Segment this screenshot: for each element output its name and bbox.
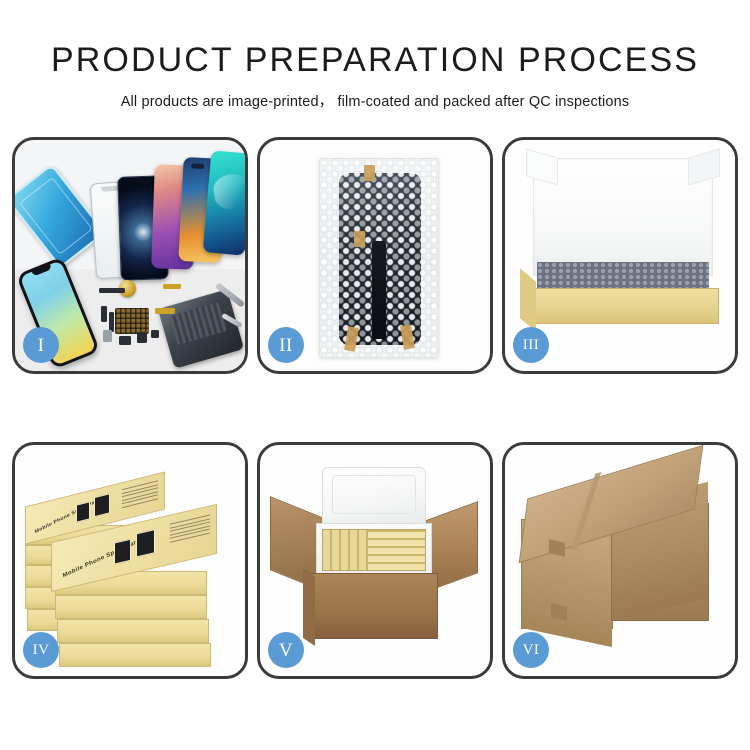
stacked-box-fr-3: [57, 619, 209, 643]
tape-top: [364, 165, 375, 181]
speaker-part: [99, 288, 125, 293]
process-step-panel-2[interactable]: II: [257, 137, 493, 374]
flex-cable-part-c: [155, 308, 175, 314]
process-step-panel-6[interactable]: VI: [502, 442, 738, 679]
process-step-panel-4[interactable]: Mobile Phone Spare Parts Mobile: [12, 442, 248, 679]
box-thumb-front-1: [114, 539, 131, 565]
process-step-panel-1[interactable]: I: [12, 137, 248, 374]
step-badge-6: VI: [513, 632, 549, 668]
camera-module-part: [119, 336, 131, 345]
flex-cable-part-a: [101, 306, 107, 322]
process-step-panel-5[interactable]: V: [257, 442, 493, 679]
box-thumb-back-1: [76, 501, 90, 522]
stacked-box-fr-2: [55, 595, 207, 619]
step-badge-4: IV: [23, 632, 59, 668]
flex-cable-part-b: [109, 312, 114, 332]
box-yellow-base: [527, 288, 719, 324]
box-thumb-back-2: [94, 493, 110, 517]
step-badge-5: V: [268, 632, 304, 668]
battery-connector-part: [137, 332, 147, 343]
box-thumb-front-2: [136, 529, 155, 557]
box-stack: Mobile Phone Spare Parts Mobile: [21, 463, 241, 663]
box-spec-lines-front: [170, 514, 210, 544]
step-badge-3: III: [513, 327, 549, 363]
box-spec-lines-back: [122, 480, 158, 510]
foam-box-lid: [322, 467, 426, 529]
product-preparation-process-page: PRODUCT PREPARATION PROCESS All products…: [0, 0, 750, 750]
button-part: [151, 330, 159, 338]
sim-tray-part: [103, 330, 112, 342]
bubble-wrap-bag: [319, 158, 439, 358]
step-badge-2: II: [268, 327, 304, 363]
carton-front-panel: [306, 573, 438, 639]
screen-flex-cable: [372, 241, 386, 339]
page-header: PRODUCT PREPARATION PROCESS All products…: [0, 0, 750, 111]
step-badge-1: I: [23, 327, 59, 363]
flex-connector-part: [163, 284, 181, 289]
tape-middle: [354, 231, 365, 247]
process-steps-grid: I II: [12, 137, 738, 679]
process-step-panel-3[interactable]: III: [502, 137, 738, 374]
stacked-box-fr-4: [59, 643, 211, 667]
page-subtitle: All products are image-printed， film-coa…: [0, 90, 750, 111]
box-white-lid: [533, 158, 713, 276]
page-title: PRODUCT PREPARATION PROCESS: [0, 42, 750, 78]
packed-product-rows: [322, 529, 426, 571]
ic-chip-grid: [115, 308, 149, 334]
